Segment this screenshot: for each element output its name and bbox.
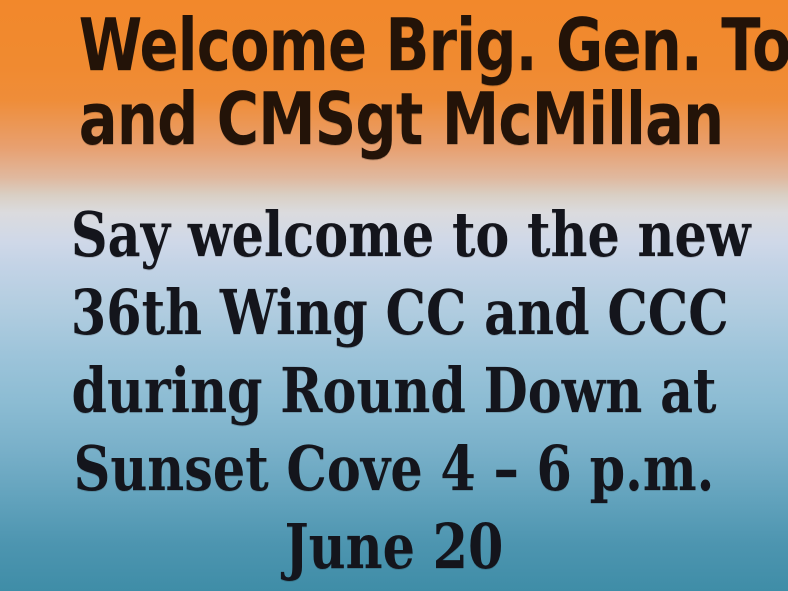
body-line-3: during Round Down at (71, 352, 717, 430)
body-line-2: 36th Wing CC and CCC (71, 274, 717, 352)
body-line-4: Sunset Cove 4 – 6 p.m. (71, 430, 717, 508)
body-line-5: June 20 (71, 508, 717, 586)
body-block: Say welcome to the new 36th Wing CC and … (0, 196, 788, 586)
heading-line-1: Welcome Brig. Gen. Toth (79, 8, 709, 82)
heading-line-2: and CMSgt McMillan (79, 82, 709, 156)
body-line-1: Say welcome to the new (71, 196, 717, 274)
heading-block: Welcome Brig. Gen. Toth and CMSgt McMill… (0, 8, 788, 156)
announcement-slide: Welcome Brig. Gen. Toth and CMSgt McMill… (0, 0, 788, 591)
